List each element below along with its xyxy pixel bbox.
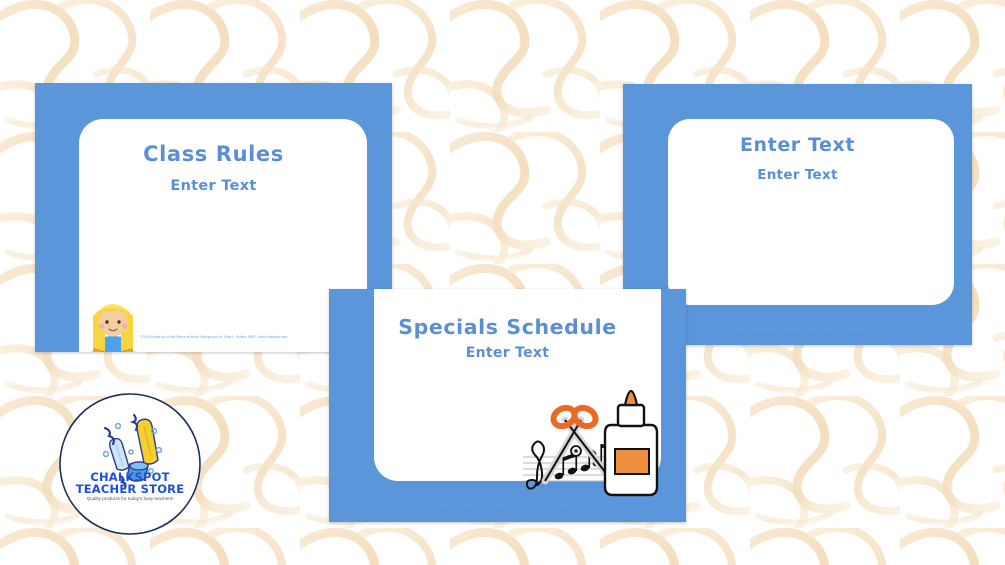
slide-title[interactable]: Enter Text [623,134,972,156]
chalkspot-logo-badge: CHALKSPOT TEACHER STORE Quality products… [58,392,202,536]
logo-line-2: TEACHER STORE [58,482,202,496]
slide-title[interactable]: Class Rules [35,142,392,166]
art-supplies-glue-scissors-music-notes-icon [519,373,667,500]
slide-credit-line: ©2015 Kiddos by A Little Peace of Africa… [329,504,686,508]
slide-subtitle[interactable]: Enter Text [35,178,392,194]
slide-subtitle[interactable]: Enter Text [623,167,972,183]
logo-circle-graphic [58,392,202,536]
slide-title[interactable]: Specials Schedule [329,315,686,339]
girl-reading-book-icon [80,288,146,352]
logo-tagline: Quality products for today's busy teache… [72,496,188,503]
slide-subtitle[interactable]: Enter Text [329,345,686,361]
